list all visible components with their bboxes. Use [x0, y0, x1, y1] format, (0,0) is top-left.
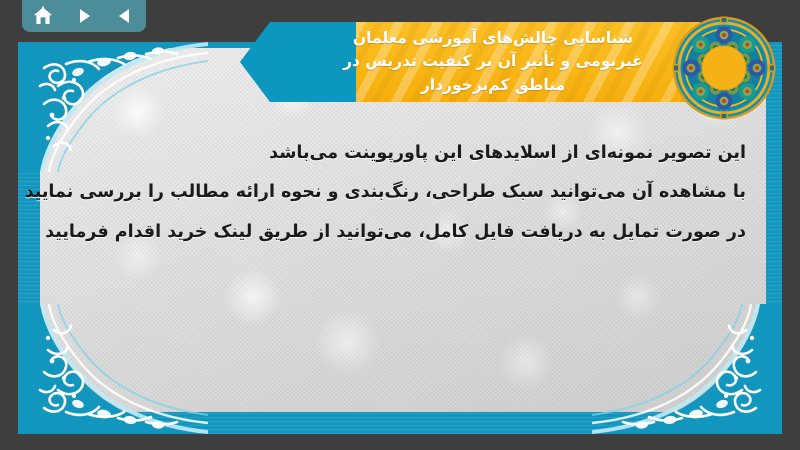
page-title-line-3: مناطق کم‌برخوردار	[421, 74, 565, 98]
next-slide-button[interactable]	[69, 3, 99, 29]
slide-body-text: این تصویر نمونه‌ای از اسلایدهای این پاور…	[52, 134, 746, 252]
page-title: شناسایی چالش‌های آموزشی معلمان غیربومی و…	[240, 22, 700, 102]
slide-stage: این تصویر نمونه‌ای از اسلایدهای این پاور…	[0, 0, 800, 450]
page-title-line-2: غیربومی و تأثیر آن بر کیفیت تدریس در	[343, 50, 643, 74]
prev-slide-button[interactable]	[110, 3, 140, 29]
page-title-line-1: شناسایی چالش‌های آموزشی معلمان	[353, 27, 633, 51]
slide-navigation-bar	[22, 0, 146, 32]
body-line-1: این تصویر نمونه‌ای از اسلایدهای این پاور…	[52, 134, 746, 173]
body-line-3: در صورت تمایل به دریافت فایل کامل، می‌تو…	[52, 213, 746, 252]
body-line-2: با مشاهده آن می‌توانید سبک طراحی، رنگ‌بن…	[52, 173, 746, 212]
persian-medallion-ornament	[672, 16, 776, 120]
frame-left-edge	[18, 42, 40, 434]
home-icon	[32, 6, 54, 26]
home-button[interactable]	[28, 3, 58, 29]
previous-arrow-icon	[115, 6, 135, 26]
frame-bottom-edge	[18, 412, 782, 434]
slide-title-ribbon: شناسایی چالش‌های آموزشی معلمان غیربومی و…	[240, 22, 700, 102]
next-arrow-icon	[74, 6, 94, 26]
